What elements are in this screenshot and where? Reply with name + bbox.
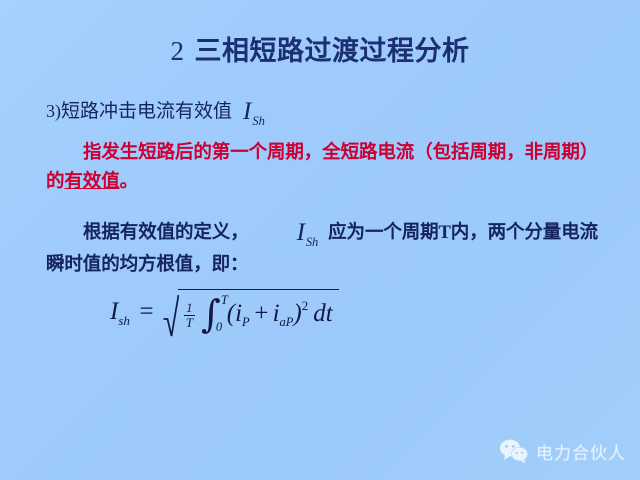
section-heading-marker: 3) <box>46 101 61 121</box>
slide-title-number: 2 <box>171 36 185 66</box>
formula-term2-subscript: aP <box>280 315 294 329</box>
formula-equals-sign: = <box>138 298 155 326</box>
formula-fraction-numerator: 1 <box>184 301 195 314</box>
slide-title: 2三相短路过渡过程分析 <box>0 36 640 67</box>
formula-term-iap: iaP <box>273 300 294 328</box>
formula-term-ip: iP <box>235 300 250 328</box>
formula-close-paren: ) <box>293 300 301 328</box>
explanation-symbol-letter: I <box>297 219 305 246</box>
formula-open-paren: ( <box>227 300 235 328</box>
wechat-icon <box>499 438 529 464</box>
formula-integral-lower-limit: 0 <box>216 320 223 335</box>
watermark: 电力合伙人 <box>499 438 626 464</box>
formula-lhs: Ish <box>110 298 130 326</box>
explanation-paragraph: 根据有效值的定义，ISh应为一个周期T内，两个分量电流瞬时值的均方根值，即： <box>46 211 610 281</box>
formula-integral-upper-limit: T <box>221 293 228 308</box>
explanation-symbol-ish: ISh <box>258 213 320 253</box>
definition-paragraph: 指发生短路后的第一个周期，全短路电流（包括周期，非周期）的有效值。 <box>46 139 610 196</box>
rms-formula: Ish = 1 T ∫ T 0 ( <box>110 289 339 335</box>
presentation-slide: 2三相短路过渡过程分析 3)短路冲击电流有效值ISh 指发生短路后的第一个周期，… <box>0 0 640 480</box>
watermark-label: 电力合伙人 <box>536 439 626 464</box>
formula-fraction-denominator: T <box>184 315 195 329</box>
section-heading: 3)短路冲击电流有效值ISh <box>46 92 610 128</box>
slide-body: 3)短路冲击电流有效值ISh 指发生短路后的第一个周期，全短路电流（包括周期，非… <box>46 92 610 280</box>
formula-fraction-one-over-t: 1 T <box>184 301 195 329</box>
heading-symbol-letter: I <box>243 98 251 125</box>
formula-differential: dt <box>313 300 332 328</box>
section-heading-text: 短路冲击电流有效值 <box>61 101 232 122</box>
formula-term1-subscript: P <box>242 315 250 329</box>
explanation-symbol-subscript: Sh <box>306 235 318 249</box>
formula-integral: ∫ T 0 <box>201 296 225 332</box>
formula-plus-sign: + <box>253 300 270 328</box>
heading-symbol-ish: ISh <box>241 94 266 130</box>
formula-lhs-subscript: sh <box>118 313 130 328</box>
definition-underlined-term: 有效值 <box>64 172 119 192</box>
definition-text-part2: 。 <box>120 172 138 192</box>
formula-exponent: 2 <box>302 298 309 314</box>
formula-term1-letter: i <box>235 300 242 327</box>
square-root-icon <box>163 289 179 335</box>
explanation-text-part1: 根据有效值的定义， <box>83 223 249 243</box>
formula-term2-letter: i <box>273 300 280 327</box>
formula-radical: 1 T ∫ T 0 ( iP + iaP ) 2 dt <box>163 289 339 335</box>
heading-symbol-subscript: Sh <box>252 114 265 128</box>
slide-title-text: 三相短路过渡过程分析 <box>195 36 470 66</box>
formula-radicand: 1 T ∫ T 0 ( iP + iaP ) 2 dt <box>178 289 339 335</box>
